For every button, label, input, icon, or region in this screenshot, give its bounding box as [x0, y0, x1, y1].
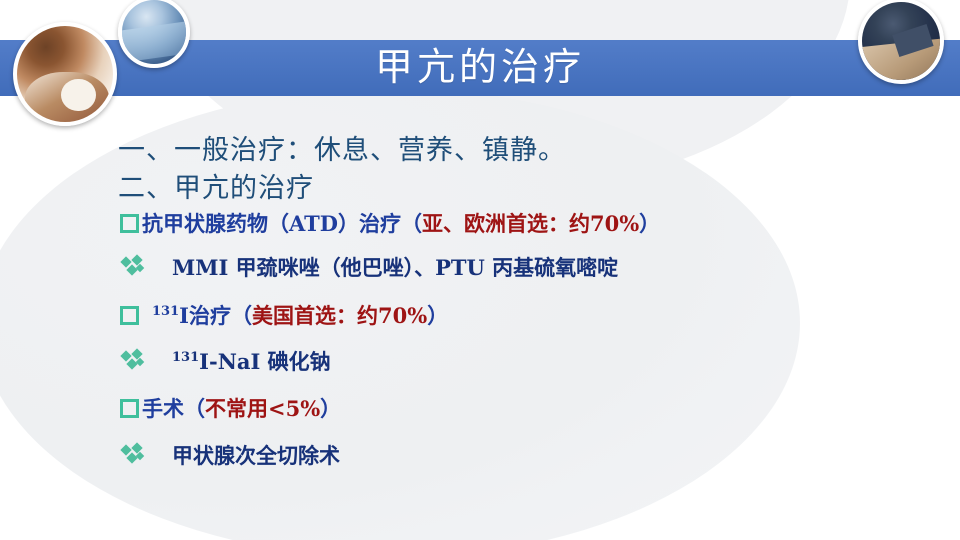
list-item-surgery-note: 不常用<5%	[205, 396, 320, 421]
square-bullet-icon	[120, 214, 139, 233]
sub-item-subtotal-thyroidectomy: 甲状腺次全切除术	[122, 440, 340, 470]
sub-item-mmi-ptu-text: MMI 甲巯咪唑（他巴唑）、PTU 丙基硫氧嘧啶	[172, 255, 618, 280]
sub-item-sodium-iodide: 131I-NaI 碘化钠	[122, 346, 331, 376]
list-item-atd-note: 亚、欧洲首选：约70%	[422, 211, 639, 236]
list-item-atd-label: 抗甲状腺药物（ATD）治疗（	[142, 211, 422, 236]
square-bullet-icon	[120, 399, 139, 418]
sub-item-sodium-iodide-sup: 131	[172, 349, 199, 374]
diamond-bullet-icon	[122, 256, 146, 278]
list-item-atd-paren-close: ）	[639, 211, 660, 236]
patient-hands-photo	[858, 0, 944, 84]
heading-general-treatment: 一、一般治疗：休息、营养、镇静。	[118, 128, 566, 167]
square-bullet-icon	[120, 306, 139, 325]
sub-item-sodium-iodide-text: I-NaI 碘化钠	[199, 349, 330, 374]
list-item-radioiodine-paren-close: ）	[427, 303, 448, 328]
list-item-radioiodine-note: 美国首选：约70%	[252, 303, 427, 328]
list-item-surgery-label: 手术（	[142, 396, 205, 421]
list-item-radioiodine-sup: 131	[152, 303, 179, 328]
diamond-bullet-icon	[122, 350, 146, 372]
heading-general-treatment-text: 一、一般治疗：休息、营养、镇静。	[118, 135, 566, 166]
list-item-radioiodine-label: I治疗（	[179, 303, 252, 328]
list-item-atd: 抗甲状腺药物（ATD）治疗（亚、欧洲首选：约70%）	[120, 208, 660, 238]
slide-canvas: 甲亢的治疗 一、一般治疗：休息、营养、镇静。 二、甲亢的治疗 抗甲状腺药物（AT…	[0, 0, 960, 540]
list-item-surgery: 手术（不常用<5%）	[120, 393, 341, 423]
diamond-bullet-icon	[122, 444, 146, 466]
heading-hyperthyroidism-treatment: 二、甲亢的治疗	[118, 166, 314, 205]
heading-hyperthyroidism-treatment-text: 二、甲亢的治疗	[118, 173, 314, 204]
sub-item-subtotal-thyroidectomy-text: 甲状腺次全切除术	[172, 443, 340, 468]
list-item-surgery-paren-close: ）	[320, 396, 341, 421]
doctor-with-mother-and-child-photo	[13, 22, 117, 126]
list-item-radioiodine: 131I治疗（美国首选：约70%）	[120, 300, 448, 330]
slide-body: 一、一般治疗：休息、营养、镇静。 二、甲亢的治疗 抗甲状腺药物（ATD）治疗（亚…	[0, 100, 960, 540]
sub-item-mmi-ptu: MMI 甲巯咪唑（他巴唑）、PTU 丙基硫氧嘧啶	[122, 252, 618, 282]
